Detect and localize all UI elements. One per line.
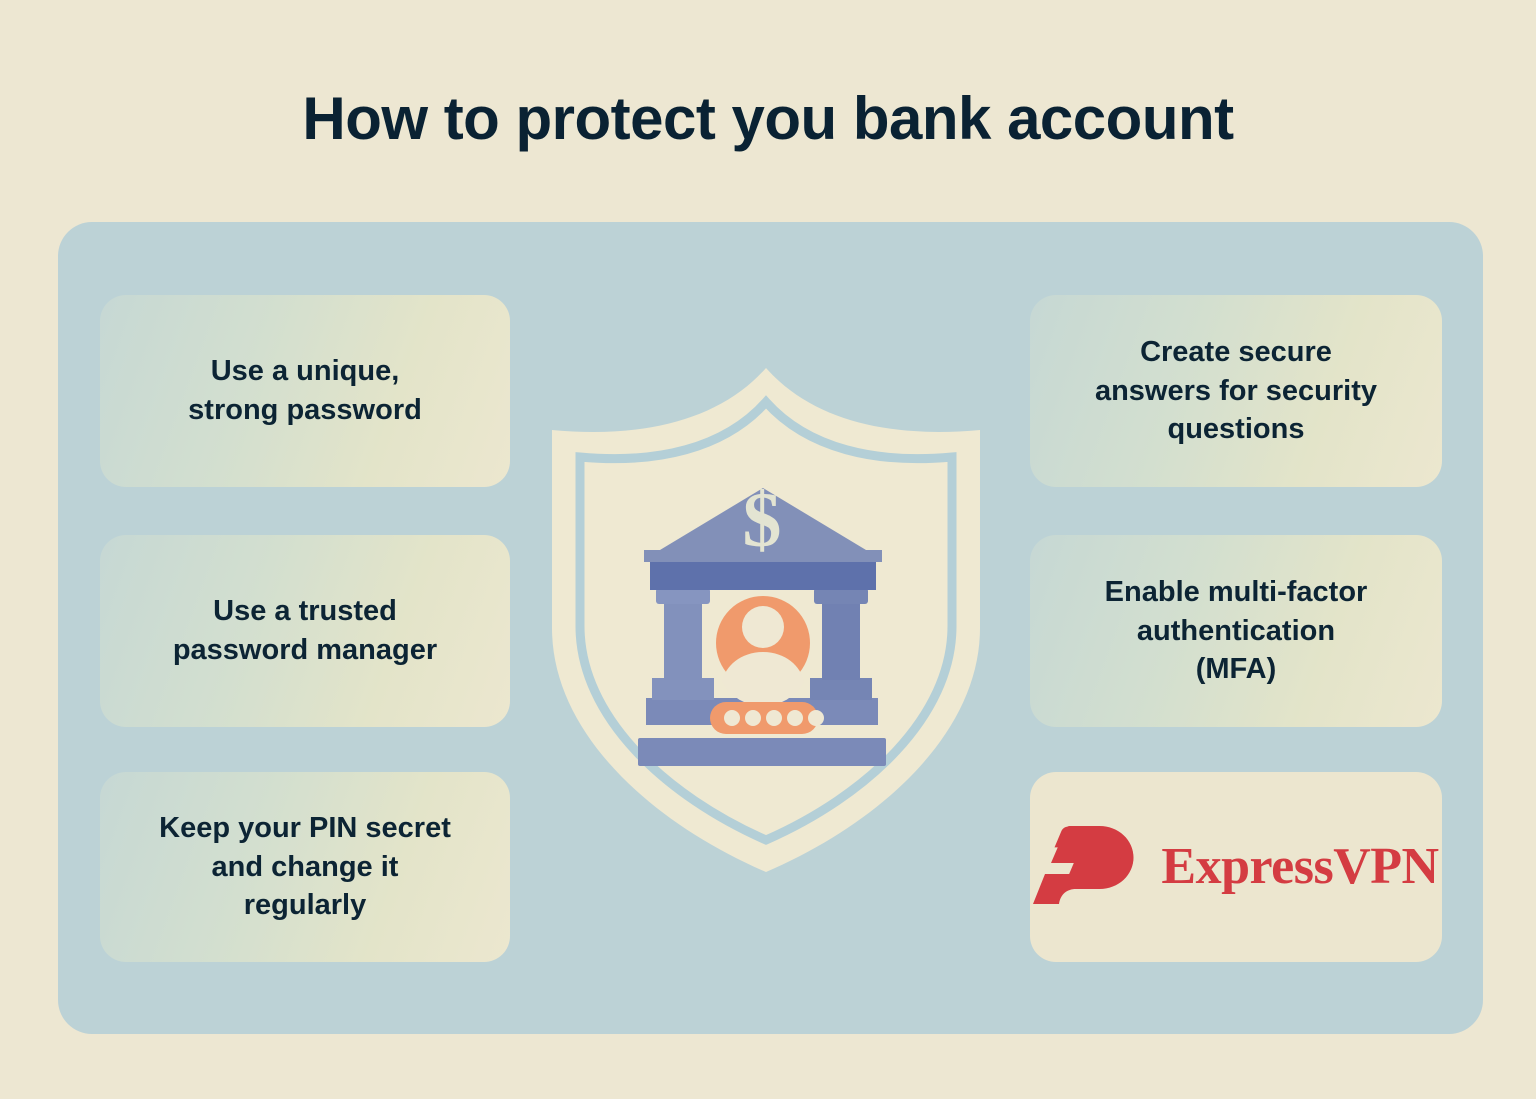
expressvpn-logo-card[interactable]: ExpressVPN [1030,772,1442,962]
expressvpn-logo: ExpressVPN [1033,826,1438,909]
tip-card-secure-security-answers[interactable]: Create secure answers for security quest… [1030,295,1442,487]
infographic-root: How to protect you bank account Use a un… [0,0,1536,1099]
tip-card-label: Use a trusted password manager [173,592,437,669]
password-field-icon [710,702,824,734]
expressvpn-wordmark: ExpressVPN [1161,841,1438,893]
tip-card-enable-mfa[interactable]: Enable multi-factor authentication (MFA) [1030,535,1442,727]
tip-card-label: Create secure answers for security quest… [1095,333,1377,449]
tip-card-trusted-password-manager[interactable]: Use a trusted password manager [100,535,510,727]
tip-card-label: Enable multi-factor authentication (MFA) [1105,573,1368,689]
expressvpn-e-mark-icon [1033,826,1141,909]
tip-card-unique-strong-password[interactable]: Use a unique, strong password [100,295,510,487]
tip-card-label: Keep your PIN secret and change it regul… [159,809,451,925]
dollar-sign-icon: $ [743,476,782,563]
tip-card-label: Use a unique, strong password [188,352,422,429]
page-title: How to protect you bank account [0,86,1536,152]
shield-with-bank-icon: $ [540,360,992,880]
tip-card-keep-pin-secret[interactable]: Keep your PIN secret and change it regul… [100,772,510,962]
avatar-icon [716,596,810,706]
